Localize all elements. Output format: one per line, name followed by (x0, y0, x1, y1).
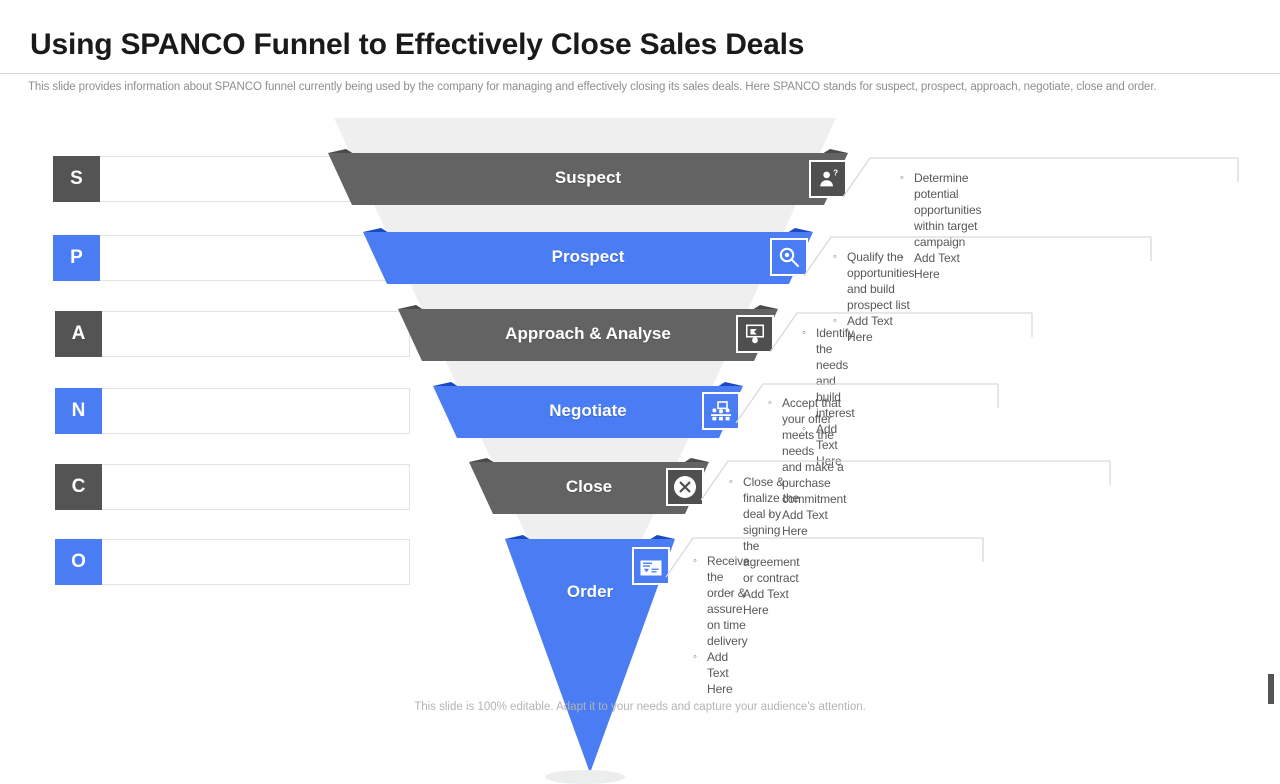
bullet-marker: ◦ (802, 325, 816, 341)
page-title: Using SPANCO Funnel to Effectively Close… (30, 28, 804, 62)
letter-badge-n: N (55, 388, 102, 434)
bullet-marker: ◦ (693, 649, 707, 665)
list-item: ◦ Add Text Here (693, 649, 750, 697)
bullet-marker: ◦ (833, 249, 847, 265)
callout-bullets: ◦ Receive the order & assure on time del… (693, 553, 750, 697)
funnel-band-approach[interactable]: Approach & Analyse (398, 305, 778, 361)
bullet-marker: ◦ (900, 170, 914, 186)
svg-text:?: ? (833, 169, 838, 178)
bullet-marker: ◦ (768, 395, 782, 411)
title-divider (0, 73, 1280, 74)
page-marker (1268, 674, 1274, 704)
funnel-band-negotiate[interactable]: Negotiate (433, 382, 743, 438)
close-x-circle-icon[interactable] (666, 468, 704, 506)
letter-badge-c: C (55, 464, 102, 510)
letter-badge-o: O (55, 539, 102, 585)
list-item: ◦ Qualify the opportunities and build pr… (833, 249, 914, 313)
funnel-band-suspect[interactable]: Suspect (328, 149, 848, 205)
list-item: ◦ Receive the order & assure on time del… (693, 553, 750, 649)
funnel-base-shadow (545, 770, 625, 784)
funnel-band-prospect[interactable]: Prospect (363, 228, 813, 284)
letter-badge-a: A (55, 311, 102, 357)
slide-subtitle: This slide provides information about SP… (28, 81, 1258, 93)
bullet-marker: ◦ (729, 474, 743, 490)
bullet-marker: ◦ (693, 553, 707, 569)
letter-badge-s: S (53, 156, 100, 202)
slide-canvas: Using SPANCO Funnel to Effectively Close… (0, 0, 1280, 720)
footer-note: This slide is 100% editable. Adapt it to… (0, 701, 1280, 713)
letter-badge-p: P (53, 235, 100, 281)
